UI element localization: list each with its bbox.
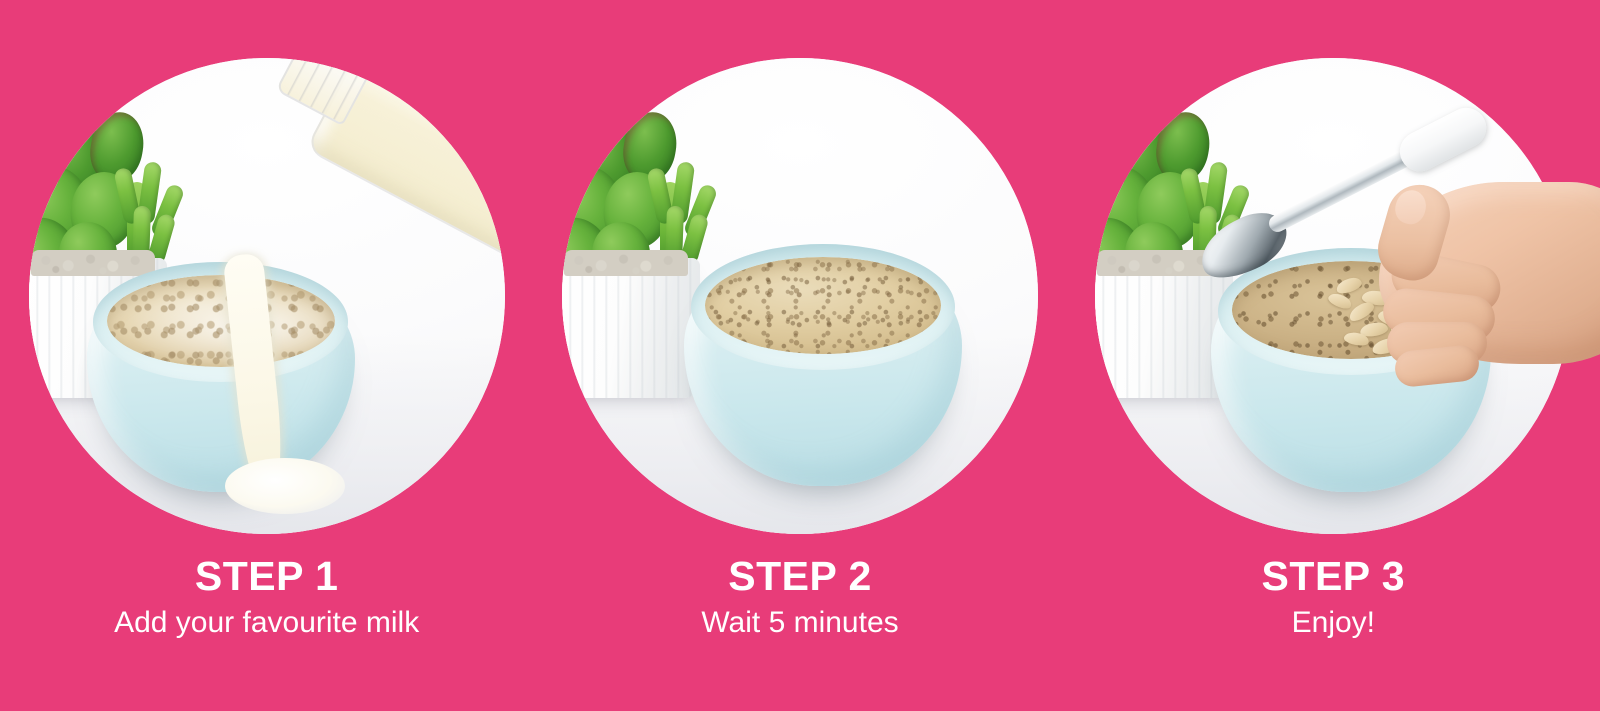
step-card-2: STEP 2 Wait 5 minutes [533,0,1066,711]
step-1-scene [29,58,505,534]
step-1-description: Add your favourite milk [0,607,533,639]
step-2-photo-circle [562,58,1038,534]
plant-pot [562,258,700,398]
step-1-photo-circle [29,58,505,534]
pot-gravel [564,250,688,276]
recipe-steps-banner: STEP 1 Add your favourite milk [0,0,1600,711]
step-3-title: STEP 3 [1067,556,1600,597]
step-2-description: Wait 5 minutes [533,607,1066,639]
step-1-title: STEP 1 [0,556,533,597]
cereal-bowl [87,262,355,492]
bowl-interior [705,257,941,354]
step-card-1: STEP 1 Add your favourite milk [0,0,533,711]
step-2-title: STEP 2 [533,556,1066,597]
soaked-oats [705,257,941,354]
milk-splash [225,458,345,514]
little-finger [1394,344,1481,389]
bowl-interior [107,275,335,367]
step-card-3: STEP 3 Enjoy! [1067,0,1600,711]
step-2-caption: STEP 2 Wait 5 minutes [533,556,1066,639]
dry-oats [107,275,335,367]
step-3-description: Enjoy! [1067,607,1600,639]
cereal-bowl [684,244,962,486]
step-3-caption: STEP 3 Enjoy! [1067,556,1600,639]
step-3-photo-circle [1095,58,1571,534]
steps-row: STEP 1 Add your favourite milk [0,0,1600,711]
spoon-grip [1393,101,1493,178]
step-2-scene [562,58,1038,534]
thumb-nail [1392,187,1430,228]
hand [1331,176,1600,412]
step-1-caption: STEP 1 Add your favourite milk [0,556,533,639]
